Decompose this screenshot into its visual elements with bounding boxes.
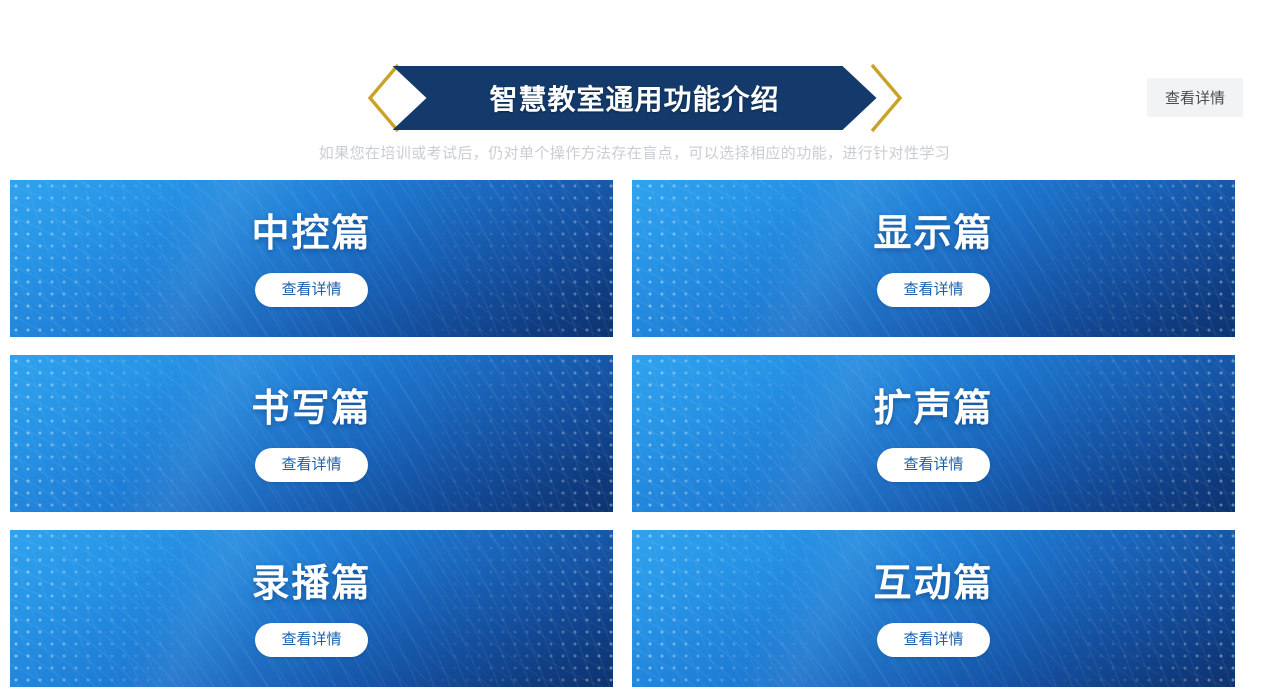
card-title: 显示篇: [873, 215, 993, 253]
view-details-button[interactable]: 查看详情: [877, 273, 989, 307]
card-title: 录播篇: [251, 565, 371, 603]
page-header: 智慧教室通用功能介绍 如果您在培训或考试后，仍对单个操作方法存在盲点，可以选择相…: [0, 0, 1269, 180]
feature-card-sound-amplification[interactable]: 扩声篇 查看详情: [632, 355, 1235, 512]
chevron-right-decoration: [869, 62, 903, 134]
view-details-button-header[interactable]: 查看详情: [1147, 78, 1243, 117]
view-details-button[interactable]: 查看详情: [877, 623, 989, 657]
feature-card-central-control[interactable]: 中控篇 查看详情: [10, 180, 613, 337]
feature-card-grid: 中控篇 查看详情 显示篇 查看详情 书写篇 查看详情 扩声篇 查: [10, 180, 1250, 687]
view-details-button[interactable]: 查看详情: [877, 448, 989, 482]
feature-card-interaction[interactable]: 互动篇 查看详情: [632, 530, 1235, 687]
view-details-button[interactable]: 查看详情: [255, 273, 367, 307]
card-title: 互动篇: [873, 565, 993, 603]
page-title: 智慧教室通用功能介绍: [489, 78, 779, 118]
title-banner: 智慧教室通用功能介绍: [0, 62, 1269, 134]
page-subtitle: 如果您在培训或考试后，仍对单个操作方法存在盲点，可以选择相应的功能，进行针对性学…: [0, 142, 1269, 163]
feature-card-display[interactable]: 显示篇 查看详情: [632, 180, 1235, 337]
feature-card-writing[interactable]: 书写篇 查看详情: [10, 355, 613, 512]
view-details-button[interactable]: 查看详情: [255, 448, 367, 482]
view-details-button[interactable]: 查看详情: [255, 623, 367, 657]
card-title: 书写篇: [251, 390, 371, 428]
card-title: 中控篇: [251, 215, 371, 253]
feature-card-recording[interactable]: 录播篇 查看详情: [10, 530, 613, 687]
chevron-left-decoration: [367, 62, 401, 134]
card-title: 扩声篇: [873, 390, 993, 428]
